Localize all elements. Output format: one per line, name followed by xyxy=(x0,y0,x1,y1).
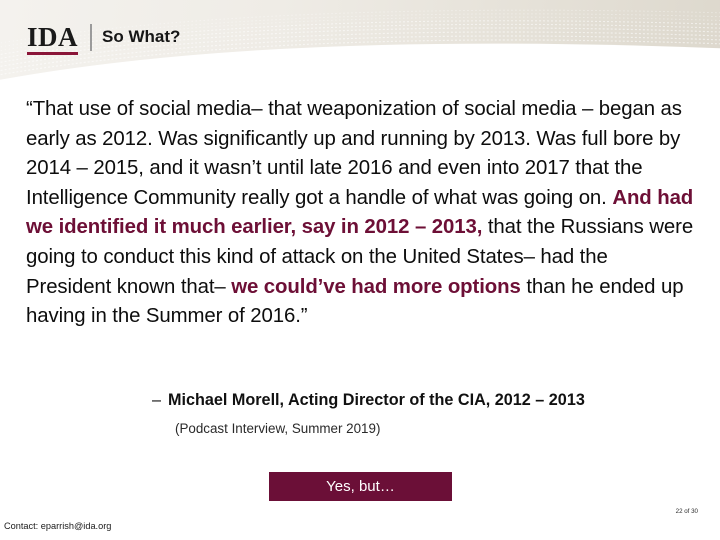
quote-attribution: –Michael Morell, Acting Director of the … xyxy=(152,390,700,411)
footer-page-number: 22 of 30 xyxy=(676,508,698,516)
page-title: So What? xyxy=(102,24,180,50)
attribution-text: Michael Morell, Acting Director of the C… xyxy=(168,391,585,409)
callout-button-label: Yes, but… xyxy=(326,479,395,494)
header-banner: IDA So What? xyxy=(0,0,720,86)
quote-segment-1: “That use of social media– that weaponiz… xyxy=(26,98,682,209)
quote-text-block: “That use of social media– that weaponiz… xyxy=(26,95,698,332)
logo-divider xyxy=(90,24,92,51)
ida-logo-block: IDA So What? xyxy=(27,24,180,55)
attribution-dash: – xyxy=(152,390,161,411)
yes-but-callout-button[interactable]: Yes, but… xyxy=(269,472,452,501)
footer-contact-text: Contact: eparrish@ida.org xyxy=(4,521,111,532)
quote-source-note: (Podcast Interview, Summer 2019) xyxy=(175,419,695,438)
slide-canvas: IDA So What? “That use of social media– … xyxy=(0,0,720,540)
ida-logo-text: IDA xyxy=(27,24,78,55)
quote-segment-highlight-2: we could’ve had more options xyxy=(231,276,521,298)
